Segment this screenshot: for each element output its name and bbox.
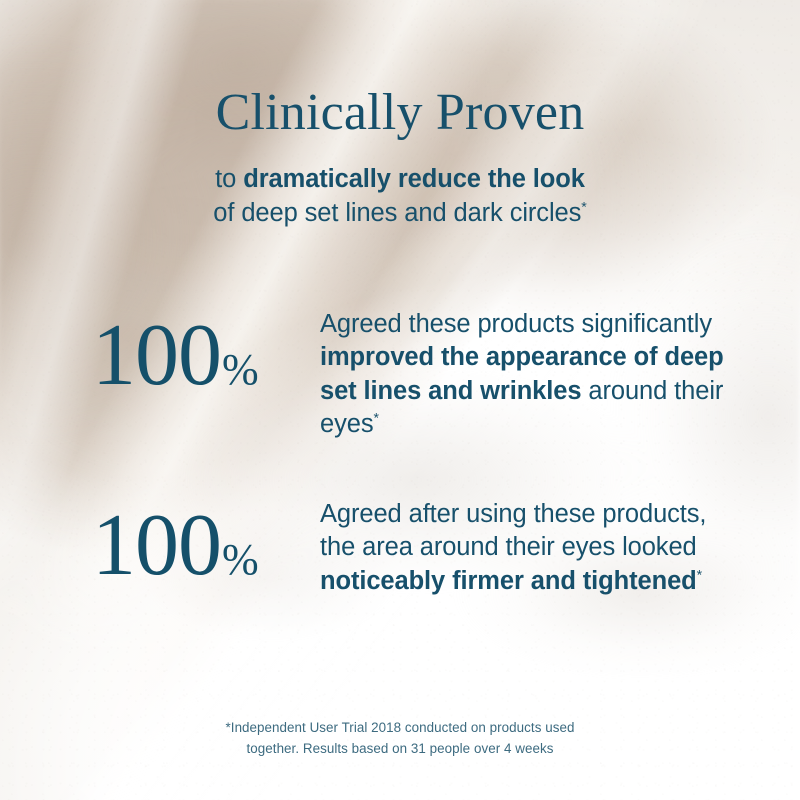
subheading-lead: to	[215, 165, 243, 193]
statistic-block-2: 100% Agreed after using these products, …	[92, 494, 742, 598]
statistic-value-1: 100	[92, 307, 221, 404]
statistic-copy-2: Agreed after using these products, the a…	[320, 494, 742, 598]
footnote-marker: *	[373, 411, 378, 427]
statistic-figure-1: 100%	[92, 304, 320, 400]
subheading-line-2: of deep set lines and dark circles*	[0, 197, 800, 231]
statistic-copy-1-part-1: Agreed these products significantly	[320, 310, 712, 338]
footnote: *Independent User Trial 2018 conducted o…	[0, 718, 800, 760]
statistic-copy-2-part-1: Agreed after using these products, the a…	[320, 500, 706, 561]
percent-symbol-1: %	[222, 345, 259, 394]
statistic-copy-2-part-2: noticeably firmer and tightened	[320, 567, 697, 595]
statistic-block-1: 100% Agreed these products significantly…	[92, 304, 742, 442]
statistic-copy-1: Agreed these products significantly impr…	[320, 304, 742, 442]
subheading-tail: of deep set lines and dark circles	[213, 199, 581, 227]
percent-symbol-2: %	[222, 535, 259, 584]
subheading-emphasis: dramatically reduce the look	[243, 165, 585, 193]
footnote-line-1: *Independent User Trial 2018 conducted o…	[0, 718, 800, 739]
footnote-marker: *	[581, 199, 586, 215]
page-title: Clinically Proven	[0, 86, 800, 140]
statistic-value-2: 100	[92, 497, 221, 594]
statistic-figure-2: 100%	[92, 494, 320, 590]
subheading-line-1: to dramatically reduce the look	[0, 163, 800, 197]
footnote-marker: *	[697, 567, 702, 583]
marketing-graphic: Clinically Proven to dramatically reduce…	[0, 0, 800, 800]
footnote-line-2: together. Results based on 31 people ove…	[0, 739, 800, 760]
subheading: to dramatically reduce the look of deep …	[0, 163, 800, 231]
